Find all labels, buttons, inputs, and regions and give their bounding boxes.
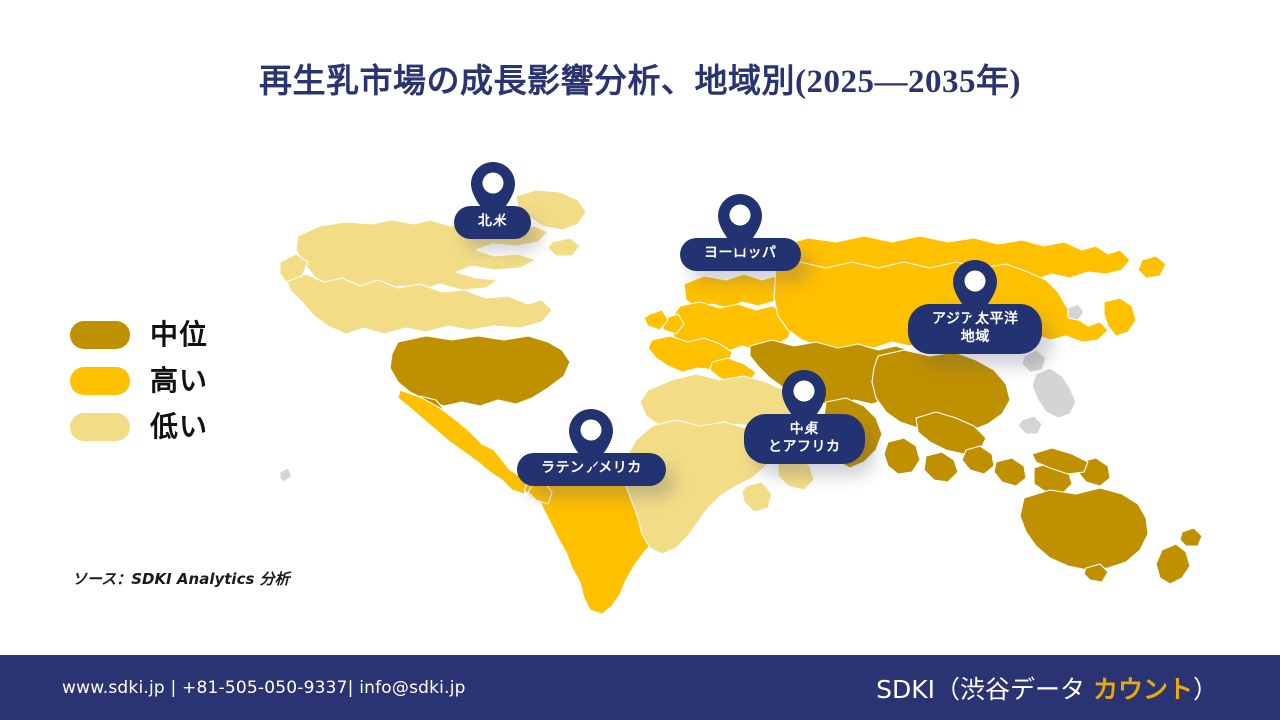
brand-accent: カウント [1093,675,1193,704]
legend-swatch-medium [70,321,130,349]
legend-label-medium: 中位 [150,321,208,349]
location-pin-icon [953,260,997,318]
legend-swatch-high [70,367,130,395]
region-japan [1018,350,1076,434]
location-pin-icon [569,409,613,467]
map-pin-asia-pacific[interactable]: アジア太平洋 地域 [908,260,1042,354]
map-pin-latin-america[interactable]: ラテンアメリカ [517,409,666,486]
page-title: 再生乳市場の成長影響分析、地域別(2025—2035年) [0,54,1280,102]
region-canada [280,190,586,334]
footer-brand-logo: SDKI（渋谷データ カウント） [876,670,1218,706]
legend-item-low: 低い [70,404,300,450]
legend-label-high: 高い [150,367,208,395]
legend-label-low: 低い [150,413,208,441]
footer-contact-info[interactable]: www.sdki.jp | +81-505-050-9337| info@sdk… [62,678,466,698]
brand-suffix: ） [1193,675,1218,704]
legend-swatch-low [70,413,130,441]
brand-prefix: SDKI（渋谷データ [876,675,1093,704]
map-pin-middle-east-africa[interactable]: 中東 とアフリカ [744,370,865,464]
location-pin-icon [782,370,826,428]
footer-bar: www.sdki.jp | +81-505-050-9337| info@sdk… [0,655,1280,720]
location-pin-icon [718,194,762,252]
map-pin-europe[interactable]: ヨーロッパ [680,194,801,271]
map-pin-north-america[interactable]: 北米 [454,162,531,239]
legend-item-high: 高い [70,358,300,404]
location-pin-icon [471,162,515,220]
legend-item-medium: 中位 [70,312,300,358]
world-map-container: 北米 ヨーロッパ アジア太平洋 地域 中東 とアフリカ ラテンアメリカ [280,150,1240,630]
source-note: ソース：SDKI Analytics 分析 [72,568,290,589]
map-legend: 中位 高い 低い [70,312,300,450]
